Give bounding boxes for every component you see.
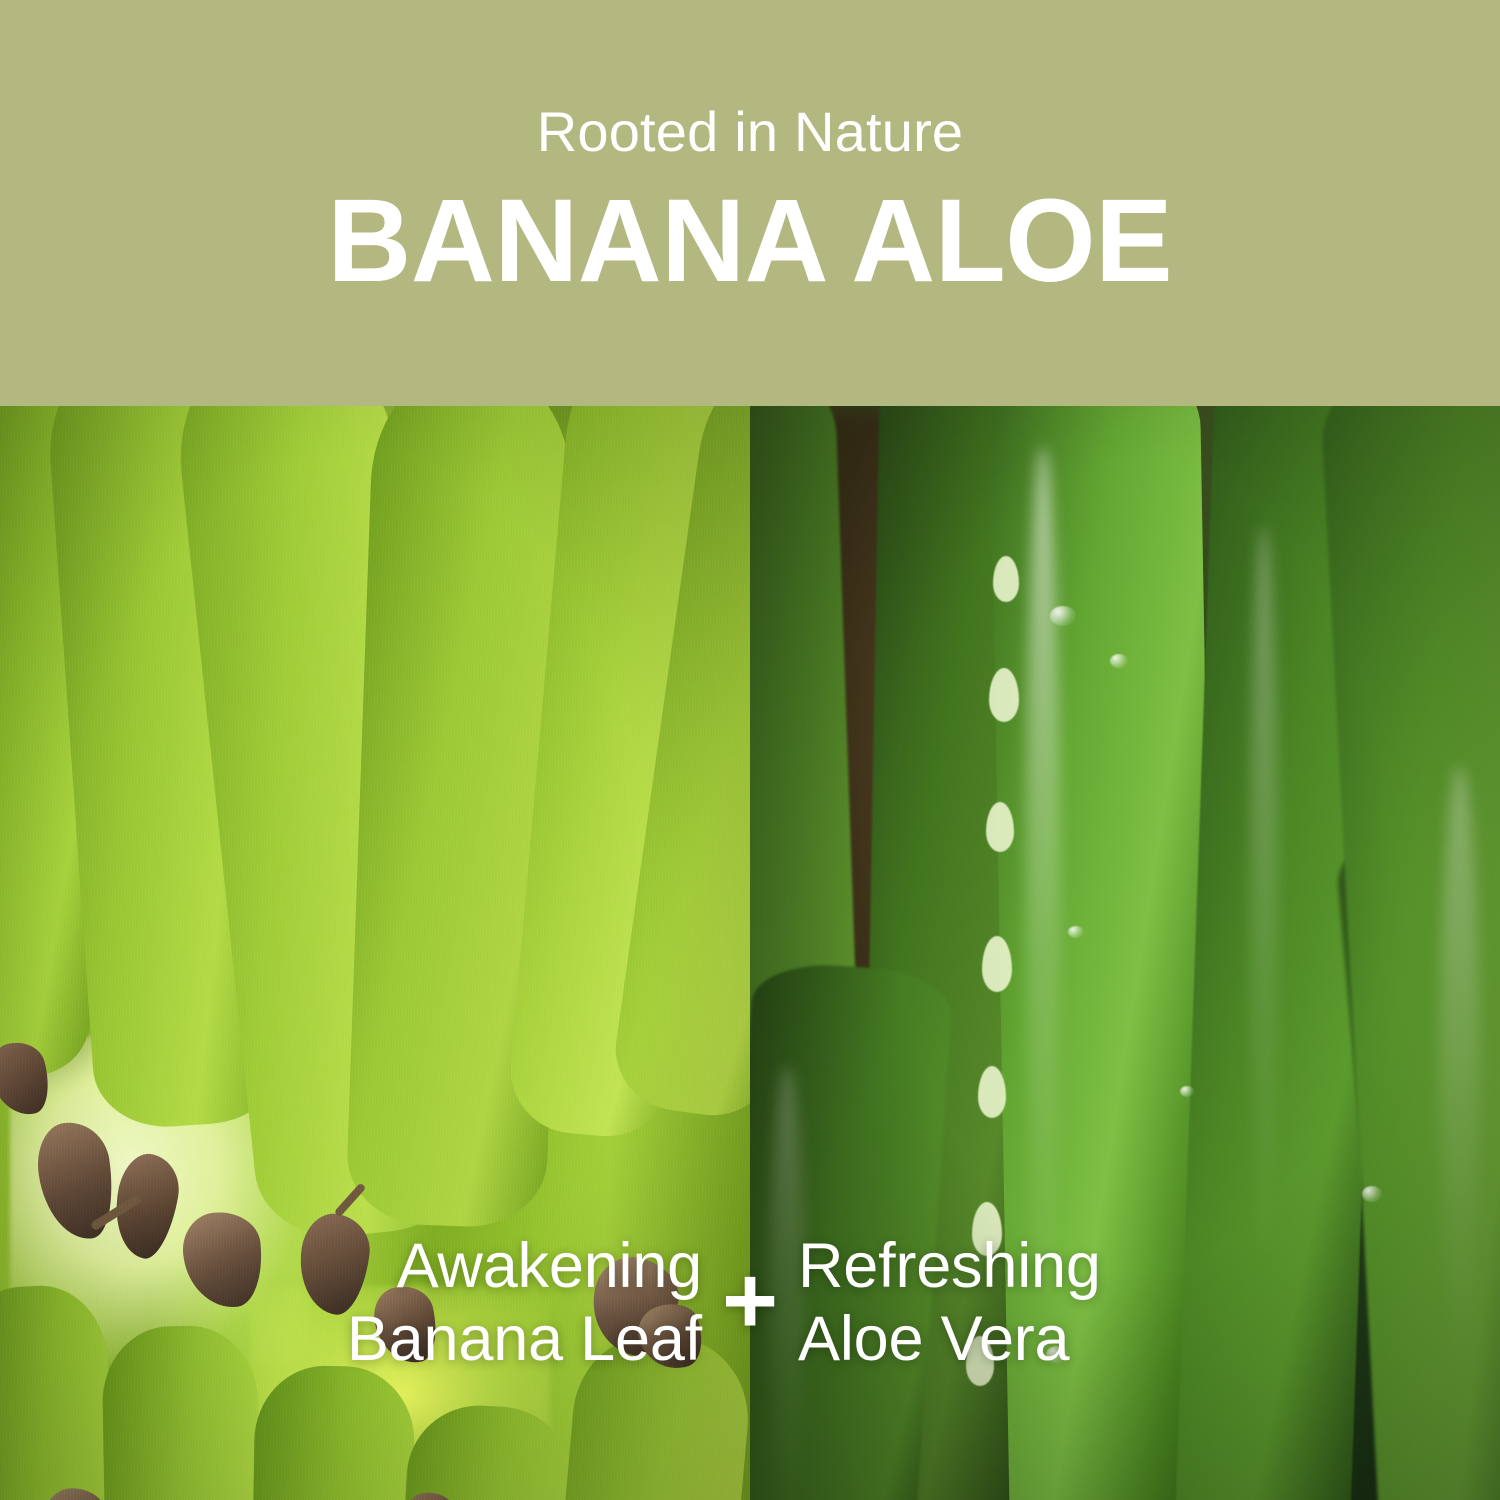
photo-split-strip [0,406,1500,1500]
banana-photo-panel [0,406,750,1500]
banner-headline: BANANA ALOE [328,182,1173,300]
aloe-photo-vignette [750,406,1500,1500]
banner-eyebrow: Rooted in Nature [537,104,964,160]
header-banner: Rooted in Nature BANANA ALOE [0,0,1500,406]
aloe-photo-panel [750,406,1500,1500]
product-ingredient-banner: Rooted in Nature BANANA ALOE [0,0,1500,1500]
banana-photo-vignette [0,406,750,1500]
